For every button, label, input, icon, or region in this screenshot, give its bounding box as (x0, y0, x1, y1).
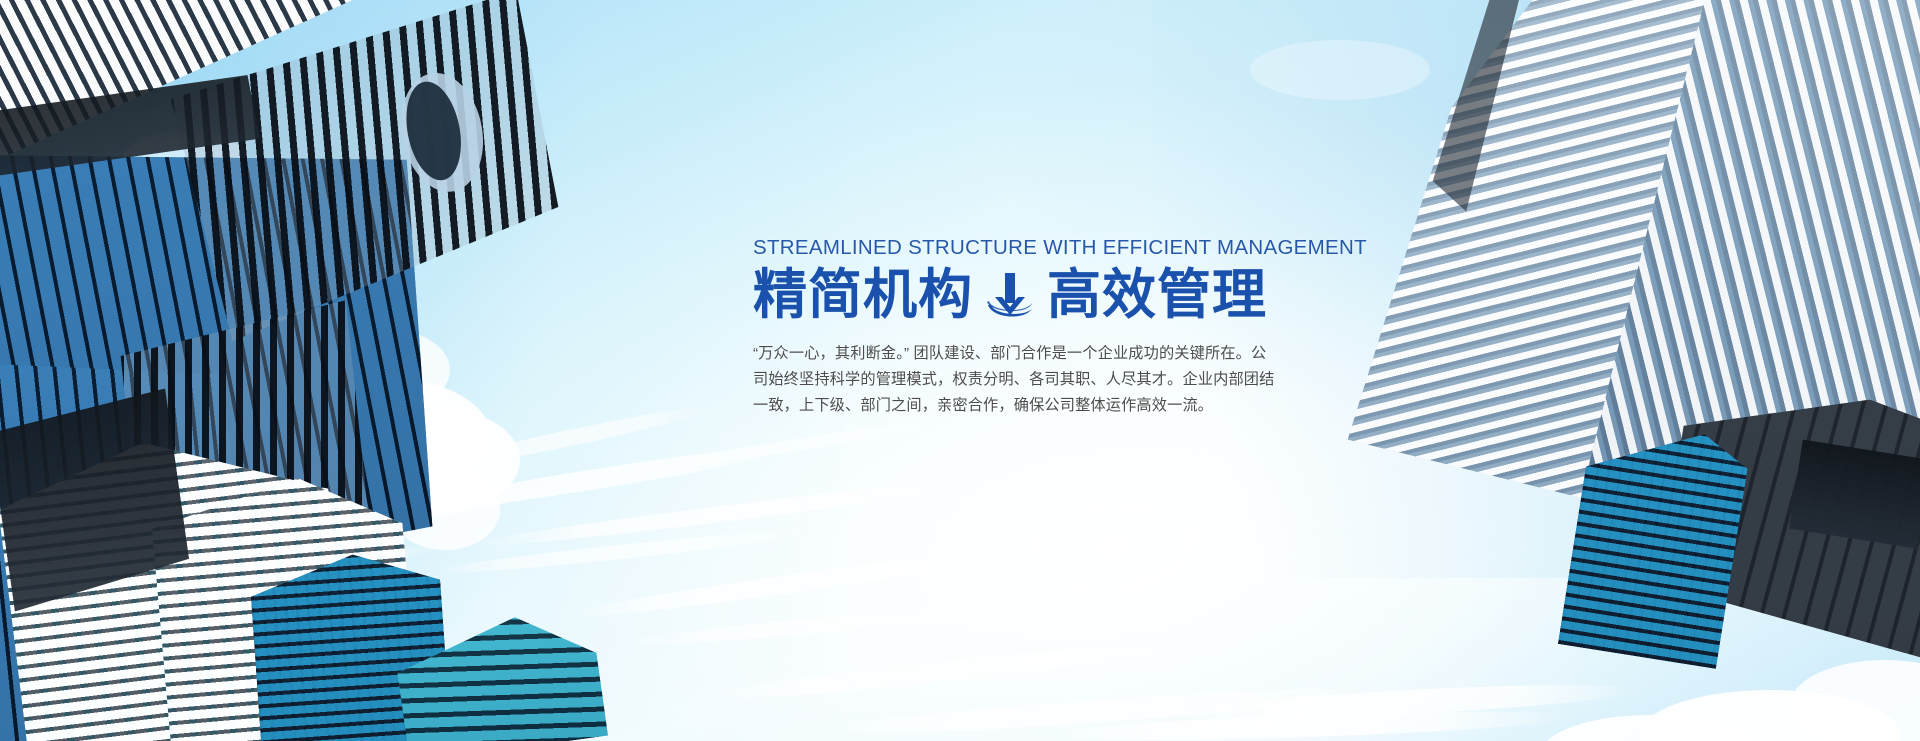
hero-banner: STREAMLINED STRUCTURE WITH EFFICIENT MAN… (0, 0, 1920, 741)
downward-arrow-swoosh-logo-icon (985, 267, 1035, 323)
hero-eyebrow-text: STREAMLINED STRUCTURE WITH EFFICIENT MAN… (753, 236, 1313, 260)
headline-left-text: 精简机构 (753, 266, 973, 324)
headline-right-text: 高效管理 (1047, 266, 1267, 324)
hero-headline: 精简机构 高效管理 (753, 266, 1313, 324)
hero-text-block: STREAMLINED STRUCTURE WITH EFFICIENT MAN… (753, 236, 1313, 434)
dark-tower-bottom-right (1504, 371, 1920, 741)
hero-body-paragraph: “万众一心，其利断金。” 团队建设、部门合作是一个企业成功的关键所在。公司始终坚… (753, 341, 1277, 419)
